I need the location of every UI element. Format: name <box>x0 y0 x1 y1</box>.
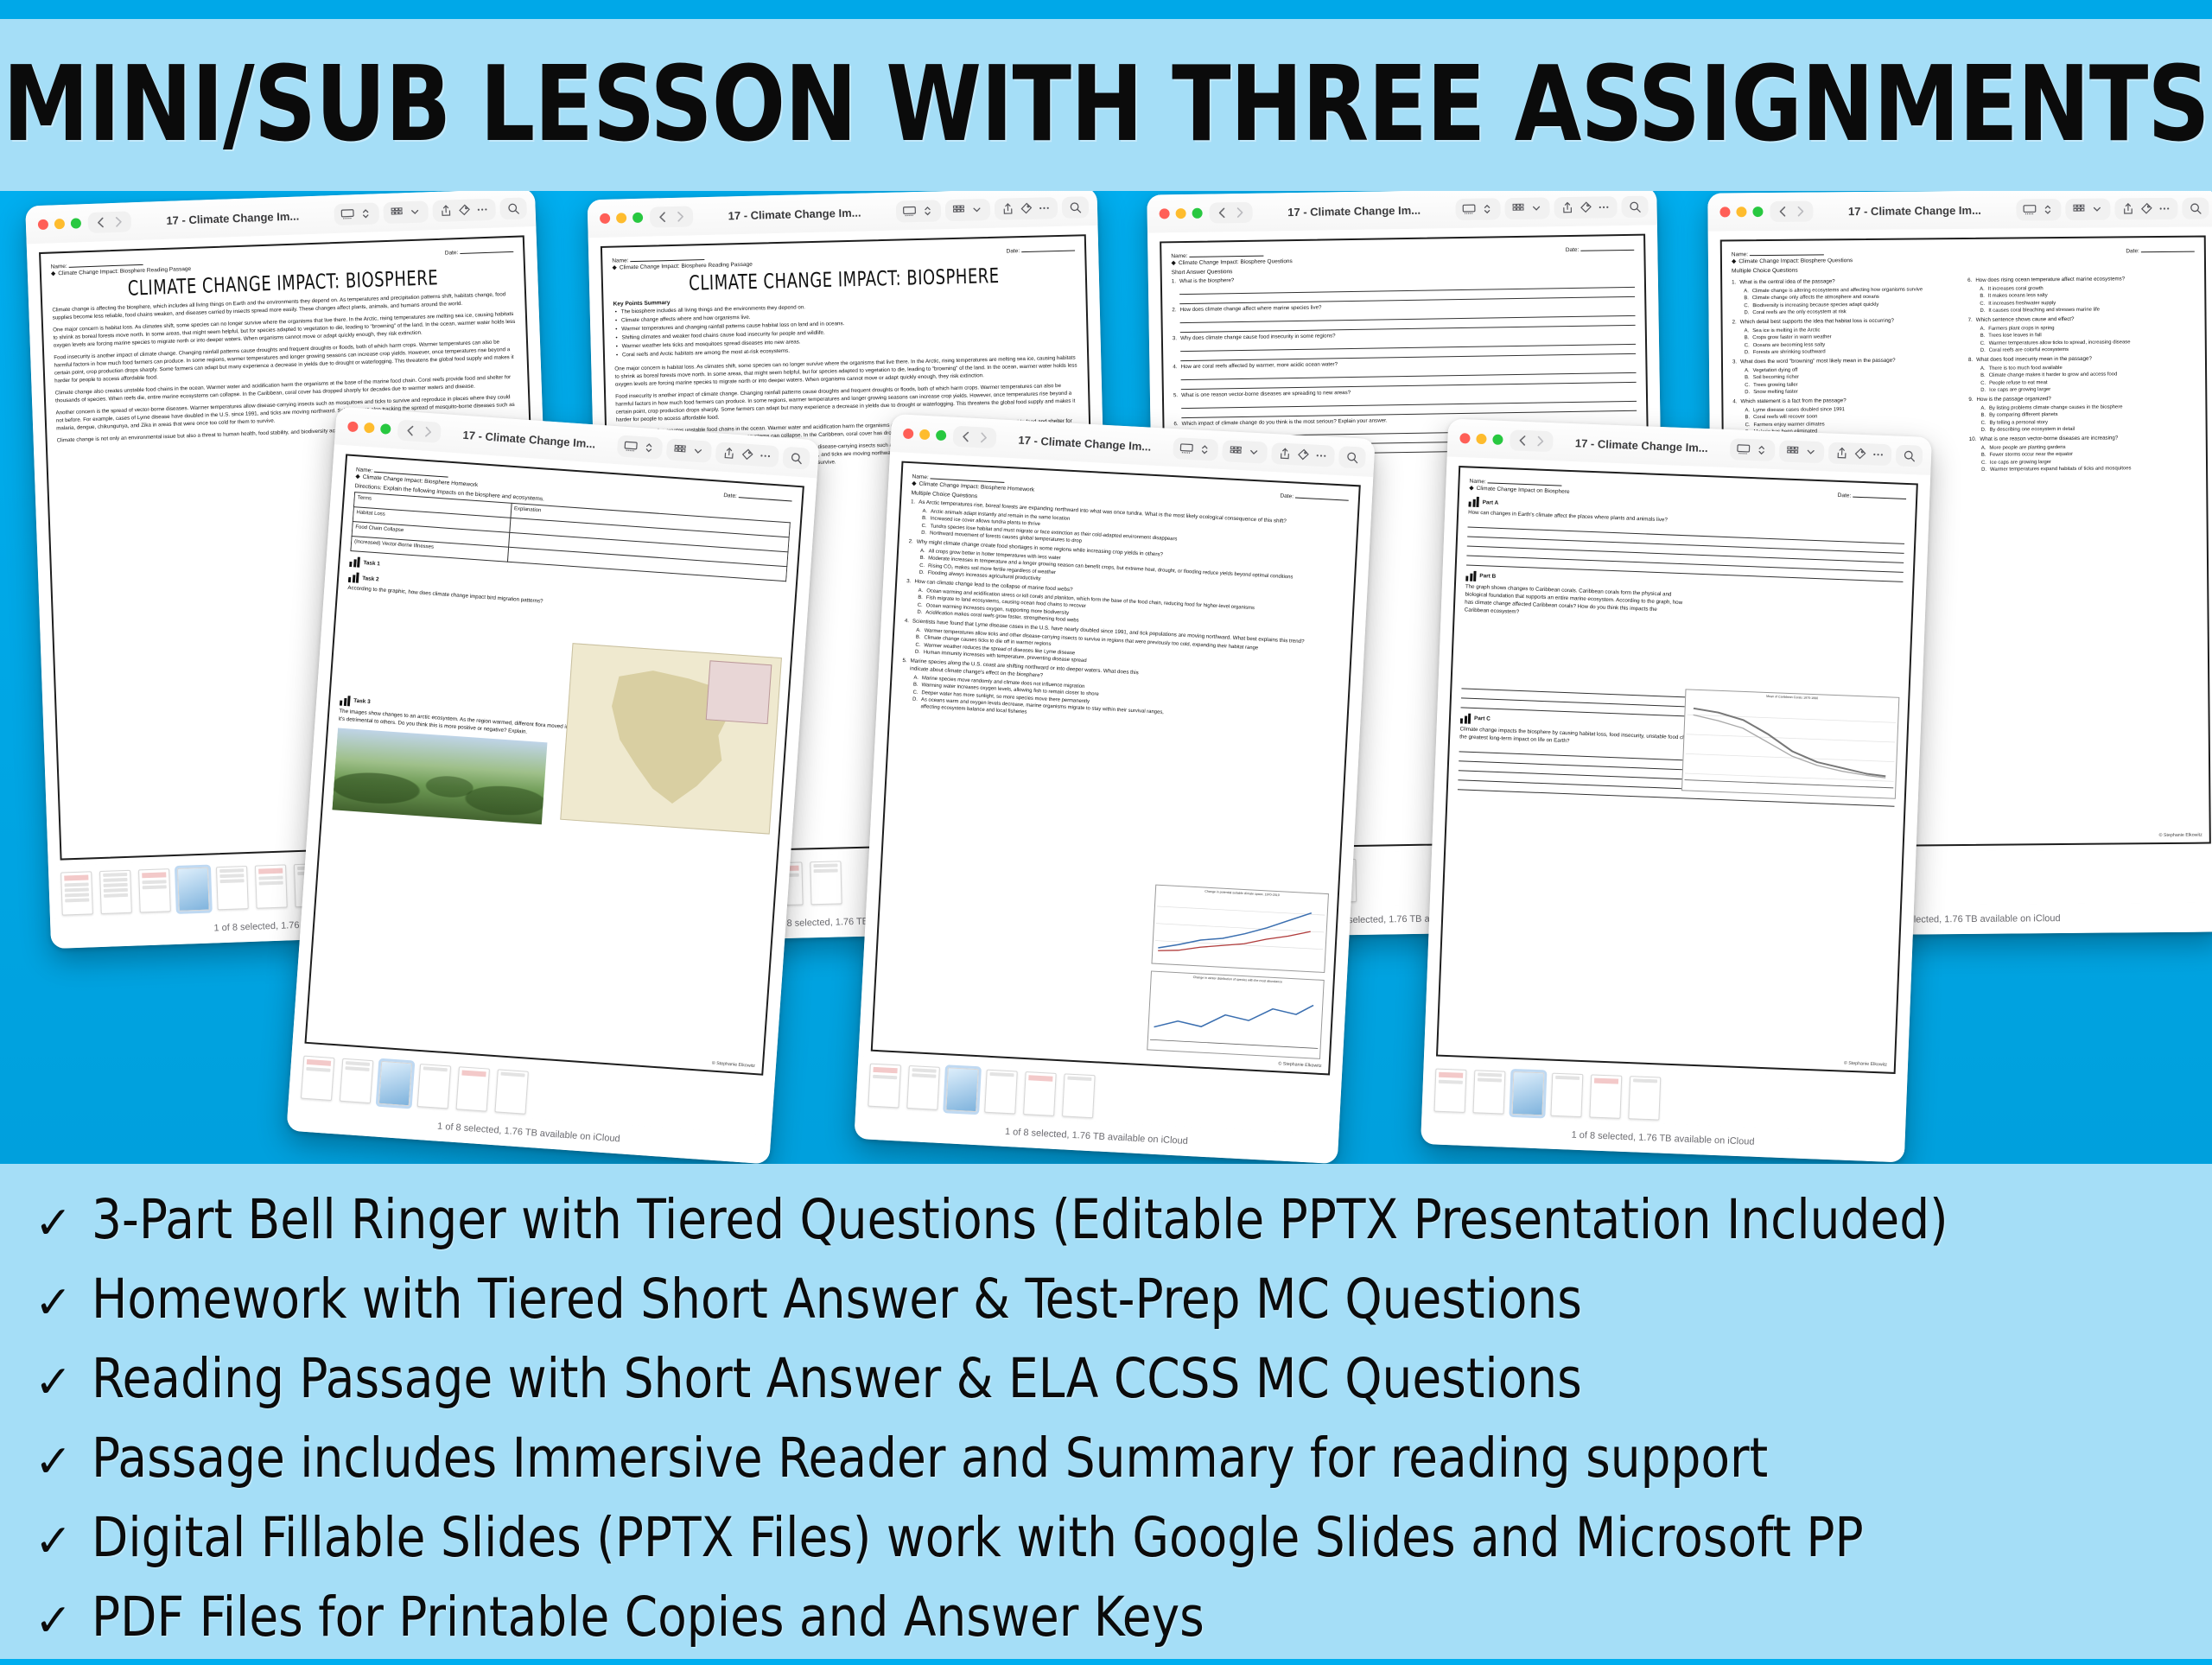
search-icon[interactable] <box>1902 448 1917 463</box>
more-options-icon[interactable] <box>2157 200 2171 215</box>
copyright-credit: © Stephanie Elkowitz <box>712 1061 755 1064</box>
view-mode-icon[interactable] <box>340 207 355 222</box>
close-button[interactable] <box>347 421 359 432</box>
chevron-up-down-icon[interactable] <box>2040 202 2055 217</box>
more-options-icon[interactable] <box>1596 200 1611 214</box>
view-mode-icon[interactable] <box>902 204 917 219</box>
window-toolbar[interactable] <box>2016 197 2209 220</box>
chevron-up-down-icon[interactable] <box>1197 442 1212 457</box>
search-icon[interactable] <box>1627 199 1642 213</box>
bar-chart-icon <box>349 556 360 568</box>
diamond-icon: ◆ <box>51 270 56 276</box>
chevron-down-icon[interactable] <box>407 204 423 219</box>
group-by-control[interactable] <box>666 438 713 463</box>
bar-chart-icon <box>1468 497 1478 507</box>
search-control[interactable] <box>1621 195 1648 217</box>
view-mode-icon[interactable] <box>1736 442 1751 457</box>
view-mode-icon[interactable] <box>1179 441 1194 456</box>
maximize-button[interactable] <box>1192 208 1203 219</box>
date-label: Date: <box>2126 246 2195 255</box>
page-thumbnail[interactable] <box>216 866 249 910</box>
mc-option[interactable]: D.Forests are shrinking southward <box>1745 347 1960 356</box>
close-button[interactable] <box>1459 433 1470 443</box>
header-banner: MINI/SUB LESSON WITH THREE ASSIGNMENTS <box>0 19 2212 191</box>
chevron-down-icon[interactable] <box>1803 444 1819 460</box>
traffic-lights[interactable] <box>1716 207 1763 217</box>
maximize-button[interactable] <box>71 218 81 228</box>
window-title: 17 - Climate Change Im... <box>1820 203 2009 218</box>
chevron-left-icon[interactable] <box>1515 433 1531 449</box>
chevron-up-down-icon[interactable] <box>641 440 657 455</box>
diamond-icon: ◆ <box>912 480 917 486</box>
page-thumbnail[interactable] <box>1628 1076 1661 1120</box>
share-icon[interactable] <box>1001 201 1015 216</box>
page-thumbnail[interactable] <box>1472 1070 1505 1114</box>
chevron-right-icon[interactable] <box>976 429 992 446</box>
close-button[interactable] <box>38 219 48 230</box>
chevron-right-icon[interactable] <box>672 208 688 224</box>
feature-label: Reading Passage with Short Answer & ELA … <box>92 1347 1582 1410</box>
diamond-icon: ◆ <box>612 265 617 271</box>
close-button[interactable] <box>903 429 914 440</box>
more-options-icon[interactable] <box>1871 447 1886 462</box>
view-mode-icon[interactable] <box>1461 201 1476 216</box>
view-mode-icon[interactable] <box>623 438 639 454</box>
minimize-button[interactable] <box>616 213 626 223</box>
window-toolbar[interactable] <box>1173 437 1366 469</box>
finder-window-homework-mc[interactable]: 17 - Climate Change Im... <box>854 414 1375 1164</box>
top-accent-bar <box>0 0 2212 19</box>
caribbean-coral-chart: Mean of Caribbean Corals 1970-1990 <box>1681 689 1900 798</box>
traffic-lights[interactable] <box>899 428 947 441</box>
tag-icon[interactable] <box>1295 447 1311 462</box>
part-b-question: The graph shows changes to Caribbean cor… <box>1465 583 1684 623</box>
minimize-button[interactable] <box>54 219 65 229</box>
feature-label: PDF Files for Printable Copies and Answe… <box>92 1586 1205 1649</box>
tag-icon[interactable] <box>456 202 472 218</box>
mc-option[interactable]: D.Ice caps are growing larger <box>1980 385 2196 394</box>
share-icon[interactable] <box>438 203 454 219</box>
chevron-down-icon[interactable] <box>969 202 984 217</box>
mc-option[interactable]: D.Snow melting faster <box>1745 387 1960 396</box>
page-thumbnail[interactable] <box>255 864 288 908</box>
search-control[interactable] <box>1338 446 1366 469</box>
group-by-icon[interactable] <box>1228 443 1243 459</box>
tag-icon[interactable] <box>740 447 755 462</box>
tag-icon[interactable] <box>1578 200 1592 214</box>
actions-control[interactable] <box>432 198 496 222</box>
search-icon[interactable] <box>1068 200 1083 214</box>
maximize-button[interactable] <box>1492 435 1503 445</box>
diamond-icon: ◆ <box>355 473 360 480</box>
search-control[interactable] <box>1062 196 1090 219</box>
minimize-button[interactable] <box>919 429 931 441</box>
bar-chart-icon <box>348 572 359 583</box>
chevron-left-icon[interactable] <box>958 429 975 445</box>
page-thumbnail[interactable] <box>1023 1071 1057 1116</box>
search-icon[interactable] <box>505 200 521 216</box>
chevron-left-icon[interactable] <box>1775 204 1790 219</box>
page-thumbnail-selected[interactable] <box>378 1061 412 1106</box>
window-toolbar[interactable] <box>617 435 810 469</box>
navigation-buttons[interactable] <box>87 211 131 233</box>
chevron-right-icon[interactable] <box>1792 204 1808 219</box>
share-icon[interactable] <box>1277 446 1293 461</box>
page-thumbnail[interactable] <box>494 1069 528 1114</box>
actions-control[interactable] <box>1828 442 1892 466</box>
navigation-buttons[interactable] <box>650 206 694 227</box>
view-mode-control[interactable] <box>1730 438 1776 461</box>
mc-option[interactable]: D.Coral reefs are colorful ecosystems <box>1980 345 2196 353</box>
chevron-down-icon[interactable] <box>1529 200 1543 215</box>
finder-window-homework-tasks[interactable]: 17 - Climate Change Im... <box>286 406 819 1164</box>
chevron-left-icon[interactable] <box>1214 205 1230 220</box>
page-thumbnail[interactable] <box>1550 1073 1583 1117</box>
page-thumbnail[interactable] <box>984 1070 1018 1115</box>
maximize-button[interactable] <box>1752 207 1763 217</box>
check-icon: ✓ <box>35 1281 92 1325</box>
chart-thumbnail-migration: Change in potential suitable climate spa… <box>1152 885 1329 973</box>
arctic-ecosystem-photo <box>332 728 547 824</box>
check-icon: ✓ <box>35 1439 92 1484</box>
view-mode-control[interactable] <box>1173 437 1218 461</box>
chevron-up-down-icon[interactable] <box>1754 442 1770 458</box>
chevron-left-icon[interactable] <box>93 214 110 231</box>
minimize-button[interactable] <box>1476 434 1486 444</box>
feature-item: ✓ Reading Passage with Short Answer & EL… <box>35 1347 2212 1427</box>
name-label: Name: <box>1171 251 1263 260</box>
share-icon[interactable] <box>721 445 737 461</box>
mc-option[interactable]: D.Coral reefs are the only ecosystem at … <box>1744 308 1959 316</box>
bar-chart-svg <box>1150 977 1321 1052</box>
minimize-button[interactable] <box>1176 208 1186 219</box>
group-by-control[interactable] <box>383 200 429 224</box>
close-button[interactable] <box>1160 208 1170 219</box>
window-title: 17 - Climate Change Im... <box>1560 435 1723 454</box>
mc-column-right: 6.How does rising ocean temperature affe… <box>1967 273 2196 474</box>
search-control[interactable] <box>499 197 527 219</box>
bar-chart-icon <box>340 696 351 707</box>
view-mode-control[interactable] <box>1455 198 1500 220</box>
chevron-right-icon[interactable] <box>1231 205 1247 220</box>
group-by-icon[interactable] <box>951 202 966 217</box>
tag-icon[interactable] <box>1019 200 1033 215</box>
chevron-right-icon[interactable] <box>111 214 127 231</box>
feature-label: 3-Part Bell Ringer with Tiered Questions… <box>92 1188 1948 1251</box>
page-thumbnail[interactable] <box>906 1065 940 1110</box>
chevron-up-down-icon[interactable] <box>1479 201 1494 216</box>
copyright-credit: © Stephanie Elkowitz <box>2159 833 2200 838</box>
actions-control[interactable] <box>1271 442 1335 467</box>
copyright-credit: © Stephanie Elkowitz <box>1278 1061 1321 1064</box>
mc-option[interactable]: D.Warmer temperatures expand habitats of… <box>1981 465 2196 473</box>
share-icon[interactable] <box>1834 445 1850 461</box>
line-chart-svg <box>1154 891 1325 965</box>
window-title: 17 - Climate Change Im... <box>448 427 612 451</box>
window-toolbar[interactable] <box>896 196 1090 222</box>
worksheet-preview: Name: Date: ◆ Climate Change Impact: Bio… <box>304 454 804 1075</box>
view-mode-control[interactable] <box>2016 199 2061 220</box>
feature-item: ✓ Homework with Tiered Short Answer & Te… <box>35 1268 2212 1347</box>
navigation-buttons[interactable] <box>1209 202 1252 224</box>
bar-chart-icon <box>1460 713 1471 723</box>
traffic-lights[interactable] <box>344 421 391 435</box>
diamond-icon: ◆ <box>1469 486 1474 492</box>
page-title: MINI/SUB LESSON WITH THREE ASSIGNMENTS <box>3 45 2209 165</box>
check-icon: ✓ <box>35 1519 92 1564</box>
maximize-button[interactable] <box>632 213 643 223</box>
actions-control[interactable] <box>2114 197 2177 219</box>
window-toolbar[interactable] <box>1455 195 1648 219</box>
window-toolbar[interactable] <box>1730 438 1923 467</box>
group-by-control[interactable] <box>945 198 991 220</box>
mc-option[interactable]: D.By describing one ecosystem in detail <box>1981 425 2196 434</box>
finder-window-bell-ringer[interactable]: 17 - Climate Change Im... <box>1421 419 1932 1163</box>
copyright-credit: © Stephanie Elkowitz <box>1844 1061 1887 1064</box>
window-title: 17 - Climate Change Im... <box>138 208 327 228</box>
actions-control[interactable] <box>995 197 1058 220</box>
tag-icon[interactable] <box>1853 446 1868 461</box>
group-by-icon[interactable] <box>672 442 688 457</box>
page-thumbnail[interactable] <box>138 868 171 912</box>
chevron-down-icon[interactable] <box>2089 201 2104 216</box>
traffic-lights[interactable] <box>35 218 81 230</box>
feature-item: ✓ PDF Files for Printable Copies and Ans… <box>35 1586 2212 1665</box>
bird-migration-map <box>560 643 782 834</box>
group-by-icon[interactable] <box>2071 201 2086 216</box>
check-icon: ✓ <box>35 1598 92 1643</box>
chevron-down-icon[interactable] <box>690 443 706 459</box>
chevron-left-icon[interactable] <box>403 423 419 439</box>
group-by-icon[interactable] <box>1785 443 1801 459</box>
share-icon[interactable] <box>2120 201 2135 216</box>
group-by-control[interactable] <box>1779 440 1825 463</box>
chevron-down-icon[interactable] <box>1246 444 1262 460</box>
navigation-buttons[interactable] <box>1510 429 1554 452</box>
view-mode-control[interactable] <box>617 435 664 460</box>
worksheet-preview: Name: Date: ◆ Climate Change Impact: Bio… <box>871 461 1361 1076</box>
more-options-icon[interactable] <box>474 201 490 217</box>
bar-chart-icon <box>1465 570 1476 581</box>
page-thumbnail[interactable] <box>301 1056 334 1101</box>
maximize-button[interactable] <box>380 423 391 435</box>
window-toolbar[interactable] <box>334 197 527 226</box>
chevron-up-down-icon[interactable] <box>920 203 935 218</box>
page-thumbnail[interactable] <box>1434 1069 1467 1113</box>
page-thumbnail[interactable] <box>868 1064 901 1109</box>
feature-item: ✓ Digital Fillable Slides (PPTX Files) w… <box>35 1506 2212 1586</box>
view-mode-control[interactable] <box>334 202 379 226</box>
page-thumbnail-selected[interactable] <box>1511 1071 1544 1115</box>
page-thumbnail[interactable] <box>340 1058 373 1103</box>
actions-control[interactable] <box>1554 196 1617 219</box>
traffic-lights[interactable] <box>1156 208 1203 219</box>
page-thumbnail[interactable] <box>417 1064 451 1109</box>
product-preview-showcase: 17 - Climate Change Im... <box>0 191 2212 1164</box>
line-chart-svg <box>1684 696 1897 791</box>
feature-item: ✓ 3-Part Bell Ringer with Tiered Questio… <box>35 1188 2212 1268</box>
chevron-right-icon[interactable] <box>1532 433 1548 449</box>
more-options-icon[interactable] <box>1037 200 1052 215</box>
group-by-icon[interactable] <box>389 205 404 220</box>
search-control[interactable] <box>1896 444 1923 467</box>
page-thumbnail[interactable] <box>1589 1074 1622 1118</box>
diamond-icon: ◆ <box>1171 260 1175 266</box>
minimize-button[interactable] <box>1736 207 1746 217</box>
window-title: 17 - Climate Change Im... <box>1003 432 1167 454</box>
check-icon: ✓ <box>35 1360 92 1405</box>
check-icon: ✓ <box>35 1201 92 1246</box>
feature-item: ✓ Passage includes Immersive Reader and … <box>35 1427 2212 1506</box>
more-options-icon[interactable] <box>758 448 773 463</box>
page-thumbnail-selected[interactable] <box>945 1067 979 1112</box>
mc-option[interactable]: D.It causes coral bleaching and stresses… <box>1980 305 2195 314</box>
chart-thumbnail-distribution: Change in winter distribution of species… <box>1147 971 1325 1059</box>
actions-control[interactable] <box>715 442 779 467</box>
navigation-buttons[interactable] <box>397 419 442 442</box>
traffic-lights[interactable] <box>596 213 643 224</box>
view-mode-icon[interactable] <box>2022 202 2037 217</box>
close-button[interactable] <box>600 213 610 224</box>
window-content: Name: Date: ◆ Climate Change Impact on B… <box>1424 457 1930 1080</box>
page-thumbnail[interactable] <box>99 870 132 914</box>
page-thumbnail-selected[interactable] <box>177 867 210 912</box>
diamond-icon: ◆ <box>1732 258 1736 264</box>
more-options-icon[interactable] <box>1313 448 1329 463</box>
group-by-control[interactable] <box>2065 198 2110 219</box>
page-thumbnail[interactable] <box>60 871 93 915</box>
name-label: Name: <box>1732 249 1824 257</box>
feature-label: Homework with Tiered Short Answer & Test… <box>92 1268 1582 1331</box>
search-control[interactable] <box>782 446 810 469</box>
feature-label: Digital Fillable Slides (PPTX Files) wor… <box>92 1506 1864 1569</box>
feature-list: ✓ 3-Part Bell Ringer with Tiered Questio… <box>0 1164 2212 1659</box>
page-thumbnail[interactable] <box>456 1066 490 1111</box>
window-titlebar[interactable]: 17 - Climate Change Im... <box>1707 191 2212 232</box>
window-title: 17 - Climate Change Im... <box>700 205 889 222</box>
navigation-buttons[interactable] <box>952 426 996 449</box>
chevron-right-icon[interactable] <box>420 423 436 440</box>
feature-label: Passage includes Immersive Reader and Su… <box>92 1427 1768 1490</box>
date-label: Date: <box>1566 245 1635 253</box>
window-content: Name: Date: ◆ Climate Change Impact: Bio… <box>858 452 1373 1081</box>
passage-paragraph: Food insecurity is another impact of cli… <box>615 382 1079 424</box>
group-by-control[interactable] <box>1222 440 1268 464</box>
search-icon[interactable] <box>1344 449 1360 465</box>
page-thumbnail[interactable] <box>1062 1073 1096 1118</box>
search-icon[interactable] <box>789 450 804 466</box>
window-content: Name: Date: ◆ Climate Change Impact: Bio… <box>292 444 817 1081</box>
chevron-left-icon[interactable] <box>655 209 671 225</box>
map-inset-chart <box>706 660 772 724</box>
search-control[interactable] <box>2182 197 2209 219</box>
traffic-lights[interactable] <box>1456 433 1503 445</box>
search-icon[interactable] <box>2188 200 2202 215</box>
group-by-icon[interactable] <box>1510 200 1525 215</box>
minimize-button[interactable] <box>364 423 375 434</box>
share-icon[interactable] <box>1560 200 1574 214</box>
maximize-button[interactable] <box>936 430 947 442</box>
view-mode-control[interactable] <box>896 200 942 222</box>
navigation-buttons[interactable] <box>1770 201 1813 222</box>
page-thumbnail[interactable] <box>810 861 842 905</box>
close-button[interactable] <box>1719 207 1730 217</box>
tag-icon[interactable] <box>2139 201 2153 216</box>
chevron-up-down-icon[interactable] <box>358 206 373 221</box>
group-by-control[interactable] <box>1504 197 1549 219</box>
worksheet-preview: Name: Date: ◆ Climate Change Impact on B… <box>1436 466 1918 1074</box>
window-title: 17 - Climate Change Im... <box>1259 203 1448 219</box>
